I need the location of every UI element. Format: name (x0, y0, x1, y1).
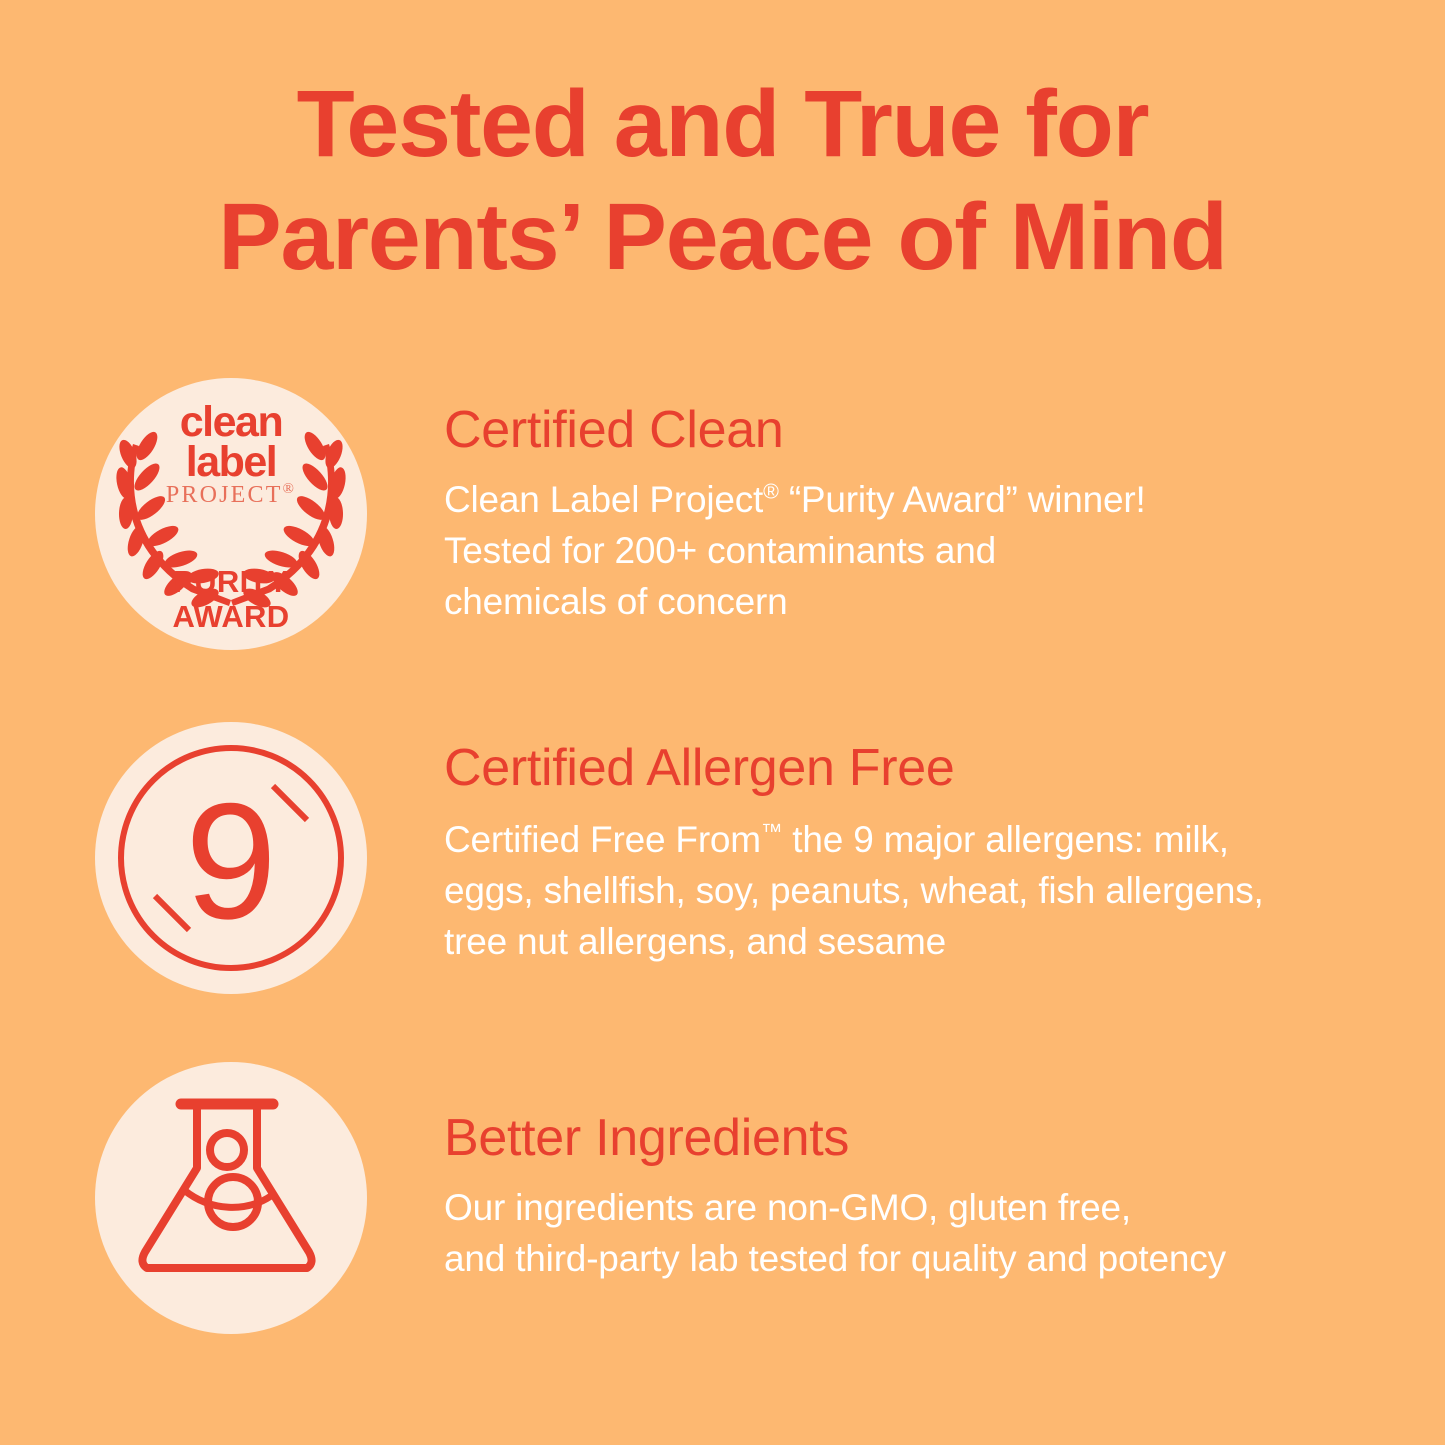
badge-project-text: PROJECT® (95, 482, 367, 509)
headline-line-1: Tested and True for (60, 68, 1385, 181)
infographic-page: Tested and True for Parents’ Peace of Mi… (0, 0, 1445, 1445)
feature-content: Certified Allergen Free Certified Free F… (444, 740, 1404, 967)
description-line: Tested for 200+ contaminants and (444, 525, 1404, 576)
headline-line-2: Parents’ Peace of Mind (60, 181, 1385, 294)
allergen-count-number: 9 (185, 769, 277, 953)
badge-brand-text: clean label (95, 402, 367, 482)
prohibition-nine-icon: 9 (95, 722, 367, 994)
description-line: chemicals of concern (444, 576, 1404, 627)
description-line: Our ingredients are non-GMO, gluten free… (444, 1182, 1404, 1233)
description-line: tree nut allergens, and sesame (444, 916, 1404, 967)
feature-title: Certified Allergen Free (444, 740, 1404, 796)
feature-description: Our ingredients are non-GMO, gluten free… (444, 1182, 1404, 1284)
trademark-mark-icon: ™ (761, 820, 782, 844)
badge-brand-line-1: clean (95, 402, 367, 442)
lab-flask-icon (95, 1062, 367, 1334)
badge-brand-line-2: label (95, 442, 367, 482)
registered-mark-icon: ® (283, 481, 297, 497)
feature-title: Better Ingredients (444, 1110, 1404, 1166)
no-nine-allergens-icon: 9 (95, 722, 367, 994)
feature-content: Better Ingredients Our ingredients are n… (444, 1110, 1404, 1284)
page-title: Tested and True for Parents’ Peace of Mi… (60, 68, 1385, 294)
feature-title: Certified Clean (444, 402, 1404, 458)
feature-row-better-ingredients: Better Ingredients Our ingredients are n… (0, 1062, 1445, 1342)
description-line: Certified Free From™ the 9 major allerge… (444, 814, 1404, 865)
feature-description: Clean Label Project® “Purity Award” winn… (444, 474, 1404, 627)
description-line: Clean Label Project® “Purity Award” winn… (444, 474, 1404, 525)
feature-description: Certified Free From™ the 9 major allerge… (444, 814, 1404, 967)
badge-award-line-1: PURITY (95, 564, 367, 599)
registered-mark-icon: ® (763, 480, 779, 504)
erlenmeyer-flask-icon (95, 1062, 367, 1334)
badge-award-line-2: AWARD (95, 599, 367, 634)
feature-content: Certified Clean Clean Label Project® “Pu… (444, 402, 1404, 627)
badge-award-text: PURITY AWARD (95, 564, 367, 634)
description-line: and third-party lab tested for quality a… (444, 1233, 1404, 1284)
feature-row-certified-allergen-free: 9 Certified Allergen Free Certified Free… (0, 722, 1445, 1002)
description-line: eggs, shellfish, soy, peanuts, wheat, fi… (444, 865, 1404, 916)
clean-label-project-badge-icon: clean label PROJECT® PURITY AWARD (95, 378, 367, 650)
feature-row-certified-clean: clean label PROJECT® PURITY AWARD Certif… (0, 378, 1445, 658)
